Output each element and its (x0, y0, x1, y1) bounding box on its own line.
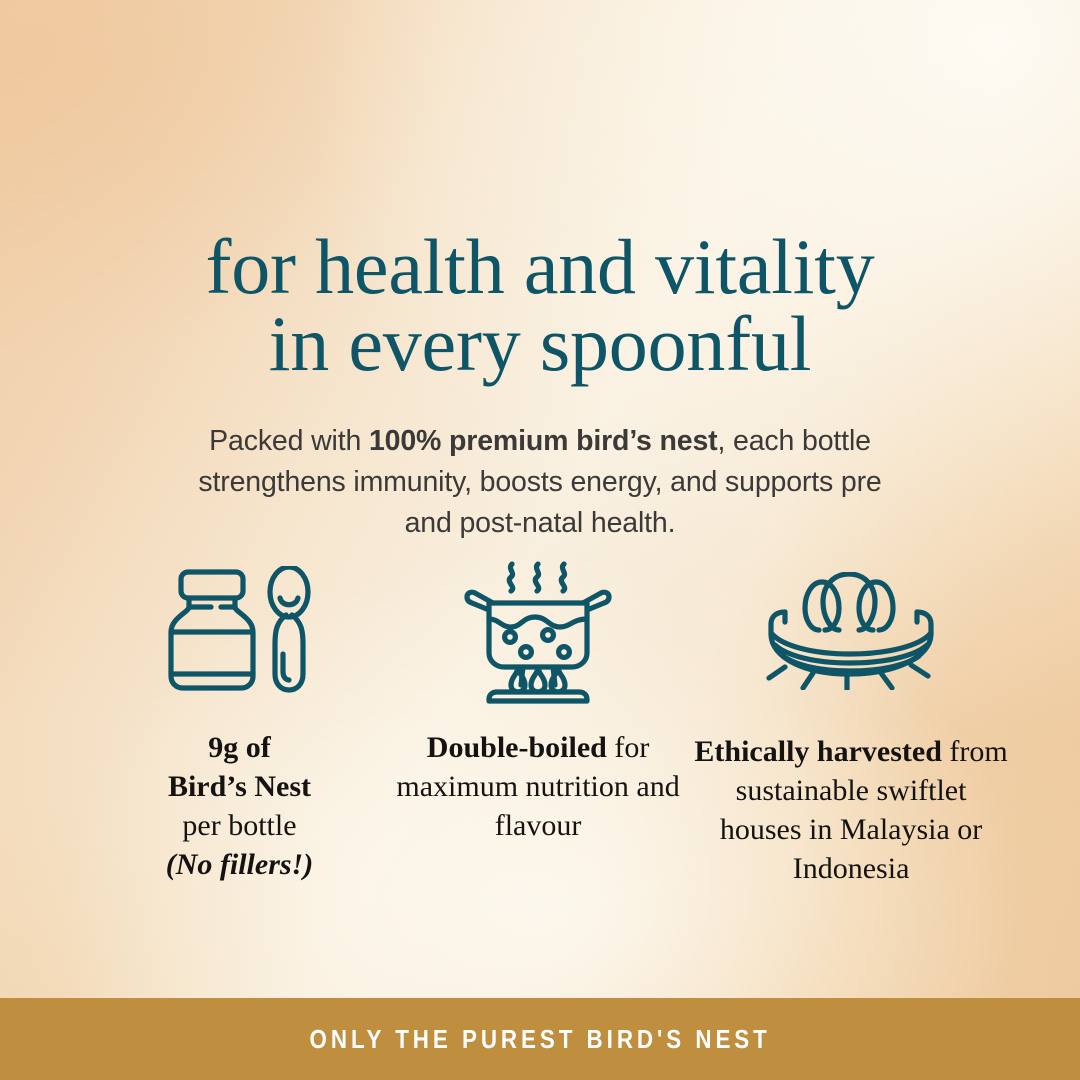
headline-line-1: for health and vitality (0, 228, 1080, 305)
intro-paragraph: Packed with 100% premium bird’s nest, ea… (175, 421, 905, 544)
poster-content: for health and vitality in every spoonfu… (0, 0, 1080, 1080)
intro-highlight: 100% premium bird’s nest (369, 425, 718, 457)
feature-item-double-boiled: Double-boiled for maximum nutrition and … (384, 556, 692, 845)
caption-bold-line-2: Bird’s Nest (168, 770, 311, 803)
feature-caption: Ethically harvested from sustainable swi… (692, 732, 1010, 888)
caption-bold-lead: Ethically harvested (694, 735, 942, 768)
jar-and-spoon-icon (159, 556, 319, 706)
feature-item-bird-nest-amount: 9g of Bird’s Nest per bottle (No fillers… (95, 556, 384, 884)
feature-caption: 9g of Bird’s Nest per bottle (No fillers… (166, 728, 313, 884)
caption-bold-lead: Double-boiled (427, 731, 607, 764)
headline-line-2: in every spoonful (0, 305, 1080, 382)
feature-list: 9g of Bird’s Nest per bottle (No fillers… (95, 556, 1010, 888)
intro-part-1: Packed with (209, 425, 369, 457)
bottom-banner: Only the purest bird's nest (0, 998, 1080, 1080)
feature-item-ethically-harvested: Ethically harvested from sustainable swi… (692, 556, 1010, 888)
feature-caption: Double-boiled for maximum nutrition and … (384, 728, 692, 845)
promo-poster: for health and vitality in every spoonfu… (0, 0, 1080, 1080)
page-title: for health and vitality in every spoonfu… (0, 228, 1080, 382)
caption-bold-line-1: 9g of (208, 731, 271, 764)
caption-regular-line: per bottle (182, 809, 296, 842)
caption-emphasis-line: (No fillers!) (166, 848, 313, 881)
boiling-pot-on-stove-icon (463, 556, 613, 706)
nest-with-eggs-icon (761, 556, 941, 706)
banner-text: Only the purest bird's nest (309, 1024, 770, 1055)
